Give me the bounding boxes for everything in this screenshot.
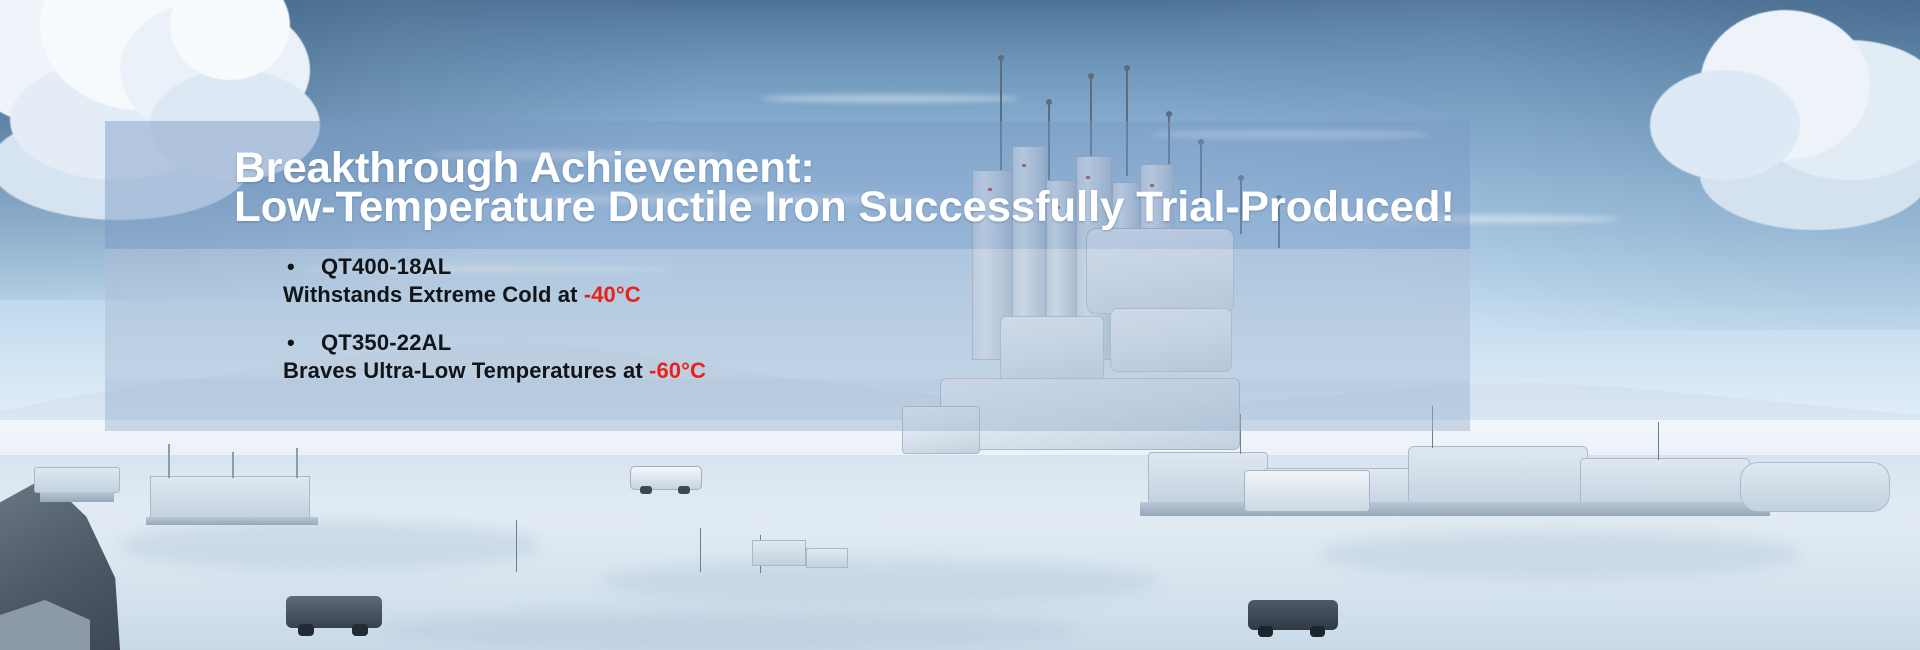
headline-line-2: Low-Temperature Ductile Iron Successfull… (234, 188, 1489, 227)
mid-shed (752, 540, 806, 566)
feature-grade-row: • QT350-22AL (105, 330, 1470, 356)
snow-drift (1320, 530, 1800, 578)
feature-description-text-2: Braves Ultra-Low Temperatures at (283, 358, 649, 383)
left-building (34, 467, 120, 493)
right-building (1408, 446, 1588, 508)
vehicle-wheel (1258, 626, 1273, 637)
temperature-value-2: -60°C (649, 358, 706, 383)
temperature-value-1: -40°C (584, 282, 641, 307)
antenna-mast (232, 452, 234, 478)
antenna-mast (168, 444, 170, 478)
bullet-point-icon: • (287, 330, 321, 356)
antenna-mast (1658, 422, 1659, 460)
snow-drift (120, 520, 540, 570)
feature-description-1: Withstands Extreme Cold at -40°C (105, 280, 1470, 310)
vehicle-wheel (678, 486, 690, 494)
left-platform-structure (150, 476, 310, 520)
bullet-point-icon: • (287, 254, 321, 280)
utility-pole (516, 520, 517, 572)
cloud-cluster-right (1620, 0, 1920, 260)
feature-list: • QT400-18AL Withstands Extreme Cold at … (105, 254, 1470, 406)
feature-description-text-1: Withstands Extreme Cold at (283, 282, 584, 307)
antenna-mast (296, 448, 298, 478)
snow-drift (380, 610, 1080, 650)
mid-shed (806, 548, 848, 568)
snow-drift (600, 560, 1160, 604)
vehicle-wheel (640, 486, 652, 494)
feature-item: • QT400-18AL Withstands Extreme Cold at … (105, 254, 1470, 310)
feature-description-2: Braves Ultra-Low Temperatures at -60°C (105, 356, 1470, 386)
feature-item: • QT350-22AL Braves Ultra-Low Temperatur… (105, 330, 1470, 386)
right-tank (1740, 462, 1890, 512)
right-building-base (1140, 502, 1770, 516)
material-grade-1: QT400-18AL (321, 254, 451, 280)
left-building-base (40, 492, 114, 502)
feature-grade-row: • QT400-18AL (105, 254, 1470, 280)
cloud-puff (1650, 70, 1800, 180)
banner-headline: Breakthrough Achievement: Low-Temperatur… (234, 149, 1489, 227)
vehicle-truck (1244, 470, 1370, 512)
vehicle-wheel (352, 624, 368, 636)
promo-overlay-panel: Breakthrough Achievement: Low-Temperatur… (105, 121, 1470, 431)
left-platform-deck (146, 517, 318, 525)
vehicle-wheel (298, 624, 314, 636)
utility-pole (700, 528, 701, 572)
material-grade-2: QT350-22AL (321, 330, 451, 356)
vehicle-wheel (1310, 626, 1325, 637)
